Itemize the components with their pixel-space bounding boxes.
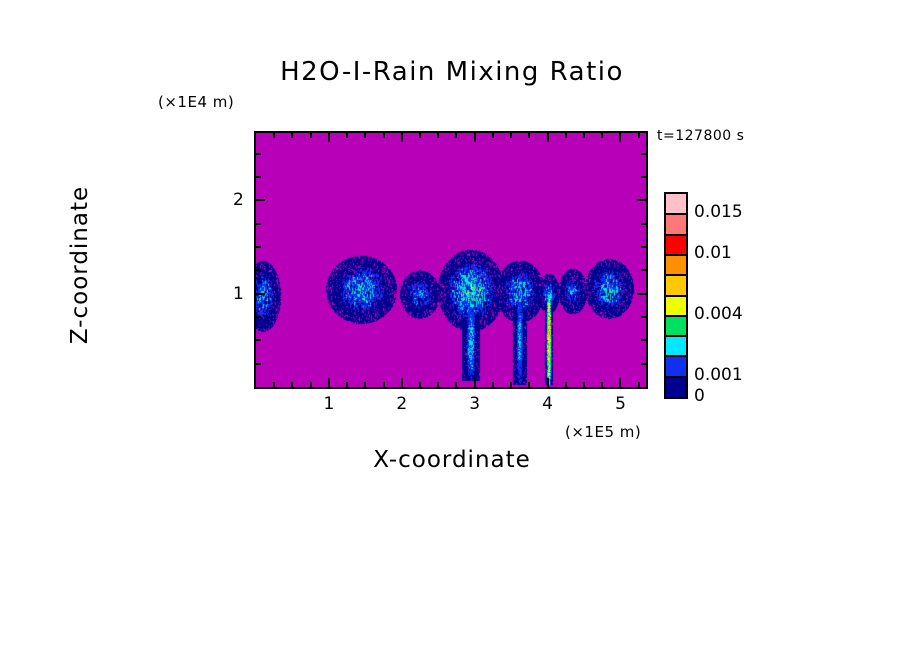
colorbar-tick-label: 0 — [694, 386, 705, 406]
x-major-tick-top — [474, 133, 476, 142]
y-major-tick — [256, 199, 265, 201]
colorbar-separator — [666, 234, 686, 236]
x-minor-tick-top — [492, 133, 494, 138]
x-minor-tick-top — [291, 133, 293, 138]
y-minor-tick-right — [641, 246, 646, 248]
colorbar-separator — [666, 335, 686, 337]
x-major-tick-top — [619, 133, 621, 142]
x-tick-label: 1 — [323, 394, 334, 414]
y-major-tick-right — [637, 293, 646, 295]
x-major-tick — [474, 378, 476, 387]
colorbar-separator — [666, 355, 686, 357]
x-minor-tick-top — [583, 133, 585, 138]
x-minor-tick-top — [419, 133, 421, 138]
x-minor-tick-top — [364, 133, 366, 138]
colorbar-band — [666, 377, 686, 397]
y-minor-tick — [256, 246, 261, 248]
x-major-tick — [328, 378, 330, 387]
colorbar-band — [666, 356, 686, 376]
x-major-tick-top — [328, 133, 330, 142]
x-major-tick-top — [401, 133, 403, 142]
colorbar-separator — [666, 376, 686, 378]
x-minor-tick-top — [601, 133, 603, 138]
x-minor-tick — [528, 382, 530, 387]
y-minor-tick-right — [641, 153, 646, 155]
colorbar-band — [666, 316, 686, 336]
x-minor-tick — [510, 382, 512, 387]
x-minor-tick — [383, 382, 385, 387]
x-axis-units-label: (×1E5 m) — [565, 423, 641, 441]
y-minor-tick-right — [641, 363, 646, 365]
x-axis-title: X-coordinate — [0, 447, 904, 473]
colorbar-band — [666, 296, 686, 316]
colorbar-tick-label: 0.001 — [694, 365, 743, 385]
colorbar-separator — [666, 274, 686, 276]
colorbar-separator — [666, 213, 686, 215]
y-major-tick — [256, 293, 265, 295]
colorbar-separator — [666, 254, 686, 256]
x-major-tick — [547, 378, 549, 387]
x-minor-tick — [346, 382, 348, 387]
x-tick-label: 5 — [615, 394, 626, 414]
x-minor-tick-top — [346, 133, 348, 138]
y-minor-tick — [256, 316, 261, 318]
colorbar-band — [666, 214, 686, 234]
x-minor-tick-top — [383, 133, 385, 138]
colorbar-band — [666, 255, 686, 275]
y-minor-tick — [256, 153, 261, 155]
y-axis-units-label: (×1E4 m) — [158, 93, 234, 111]
x-minor-tick-top — [273, 133, 275, 138]
plot-area — [254, 131, 648, 389]
x-minor-tick-top — [638, 133, 640, 138]
x-minor-tick — [455, 382, 457, 387]
x-major-tick-top — [547, 133, 549, 142]
y-minor-tick — [256, 223, 261, 225]
y-minor-tick-right — [641, 269, 646, 271]
x-minor-tick-top — [565, 133, 567, 138]
x-minor-tick — [565, 382, 567, 387]
y-major-tick-right — [637, 199, 646, 201]
x-minor-tick — [364, 382, 366, 387]
time-annotation: t=127800 s — [657, 128, 744, 144]
x-minor-tick — [310, 382, 312, 387]
y-axis-title: Z-coordinate — [67, 125, 93, 405]
y-tick-label: 2 — [233, 190, 244, 210]
colorbar-separator — [666, 315, 686, 317]
x-tick-label: 4 — [542, 394, 553, 414]
colorbar-tick-label: 0.015 — [694, 202, 743, 222]
y-minor-tick-right — [641, 316, 646, 318]
y-minor-tick — [256, 339, 261, 341]
x-minor-tick-top — [310, 133, 312, 138]
x-minor-tick-top — [437, 133, 439, 138]
y-tick-label: 1 — [233, 284, 244, 304]
x-major-tick — [401, 378, 403, 387]
chart-title: H2O-I-Rain Mixing Ratio — [0, 57, 904, 87]
rain-mixing-ratio-field — [256, 133, 646, 387]
colorbar-band — [666, 336, 686, 356]
x-minor-tick — [273, 382, 275, 387]
x-minor-tick — [492, 382, 494, 387]
x-minor-tick-top — [455, 133, 457, 138]
x-minor-tick-top — [528, 133, 530, 138]
colorbar-band — [666, 194, 686, 214]
x-tick-label: 3 — [469, 394, 480, 414]
x-minor-tick — [583, 382, 585, 387]
colorbar-band — [666, 235, 686, 255]
colorbar-tick-label: 0.01 — [694, 243, 732, 263]
y-minor-tick — [256, 363, 261, 365]
x-minor-tick — [437, 382, 439, 387]
y-minor-tick-right — [641, 223, 646, 225]
y-minor-tick — [256, 176, 261, 178]
x-minor-tick — [638, 382, 640, 387]
colorbar-separator — [666, 295, 686, 297]
y-minor-tick — [256, 269, 261, 271]
x-major-tick — [619, 378, 621, 387]
x-minor-tick — [601, 382, 603, 387]
x-tick-label: 2 — [396, 394, 407, 414]
x-minor-tick — [291, 382, 293, 387]
x-minor-tick-top — [510, 133, 512, 138]
y-minor-tick-right — [641, 339, 646, 341]
y-minor-tick-right — [641, 176, 646, 178]
colorbar-tick-label: 0.004 — [694, 304, 743, 324]
chart-figure: H2O-I-Rain Mixing Ratio (×1E4 m) (×1E5 m… — [0, 0, 904, 654]
x-minor-tick — [419, 382, 421, 387]
colorbar-band — [666, 275, 686, 295]
colorbar — [664, 192, 688, 399]
